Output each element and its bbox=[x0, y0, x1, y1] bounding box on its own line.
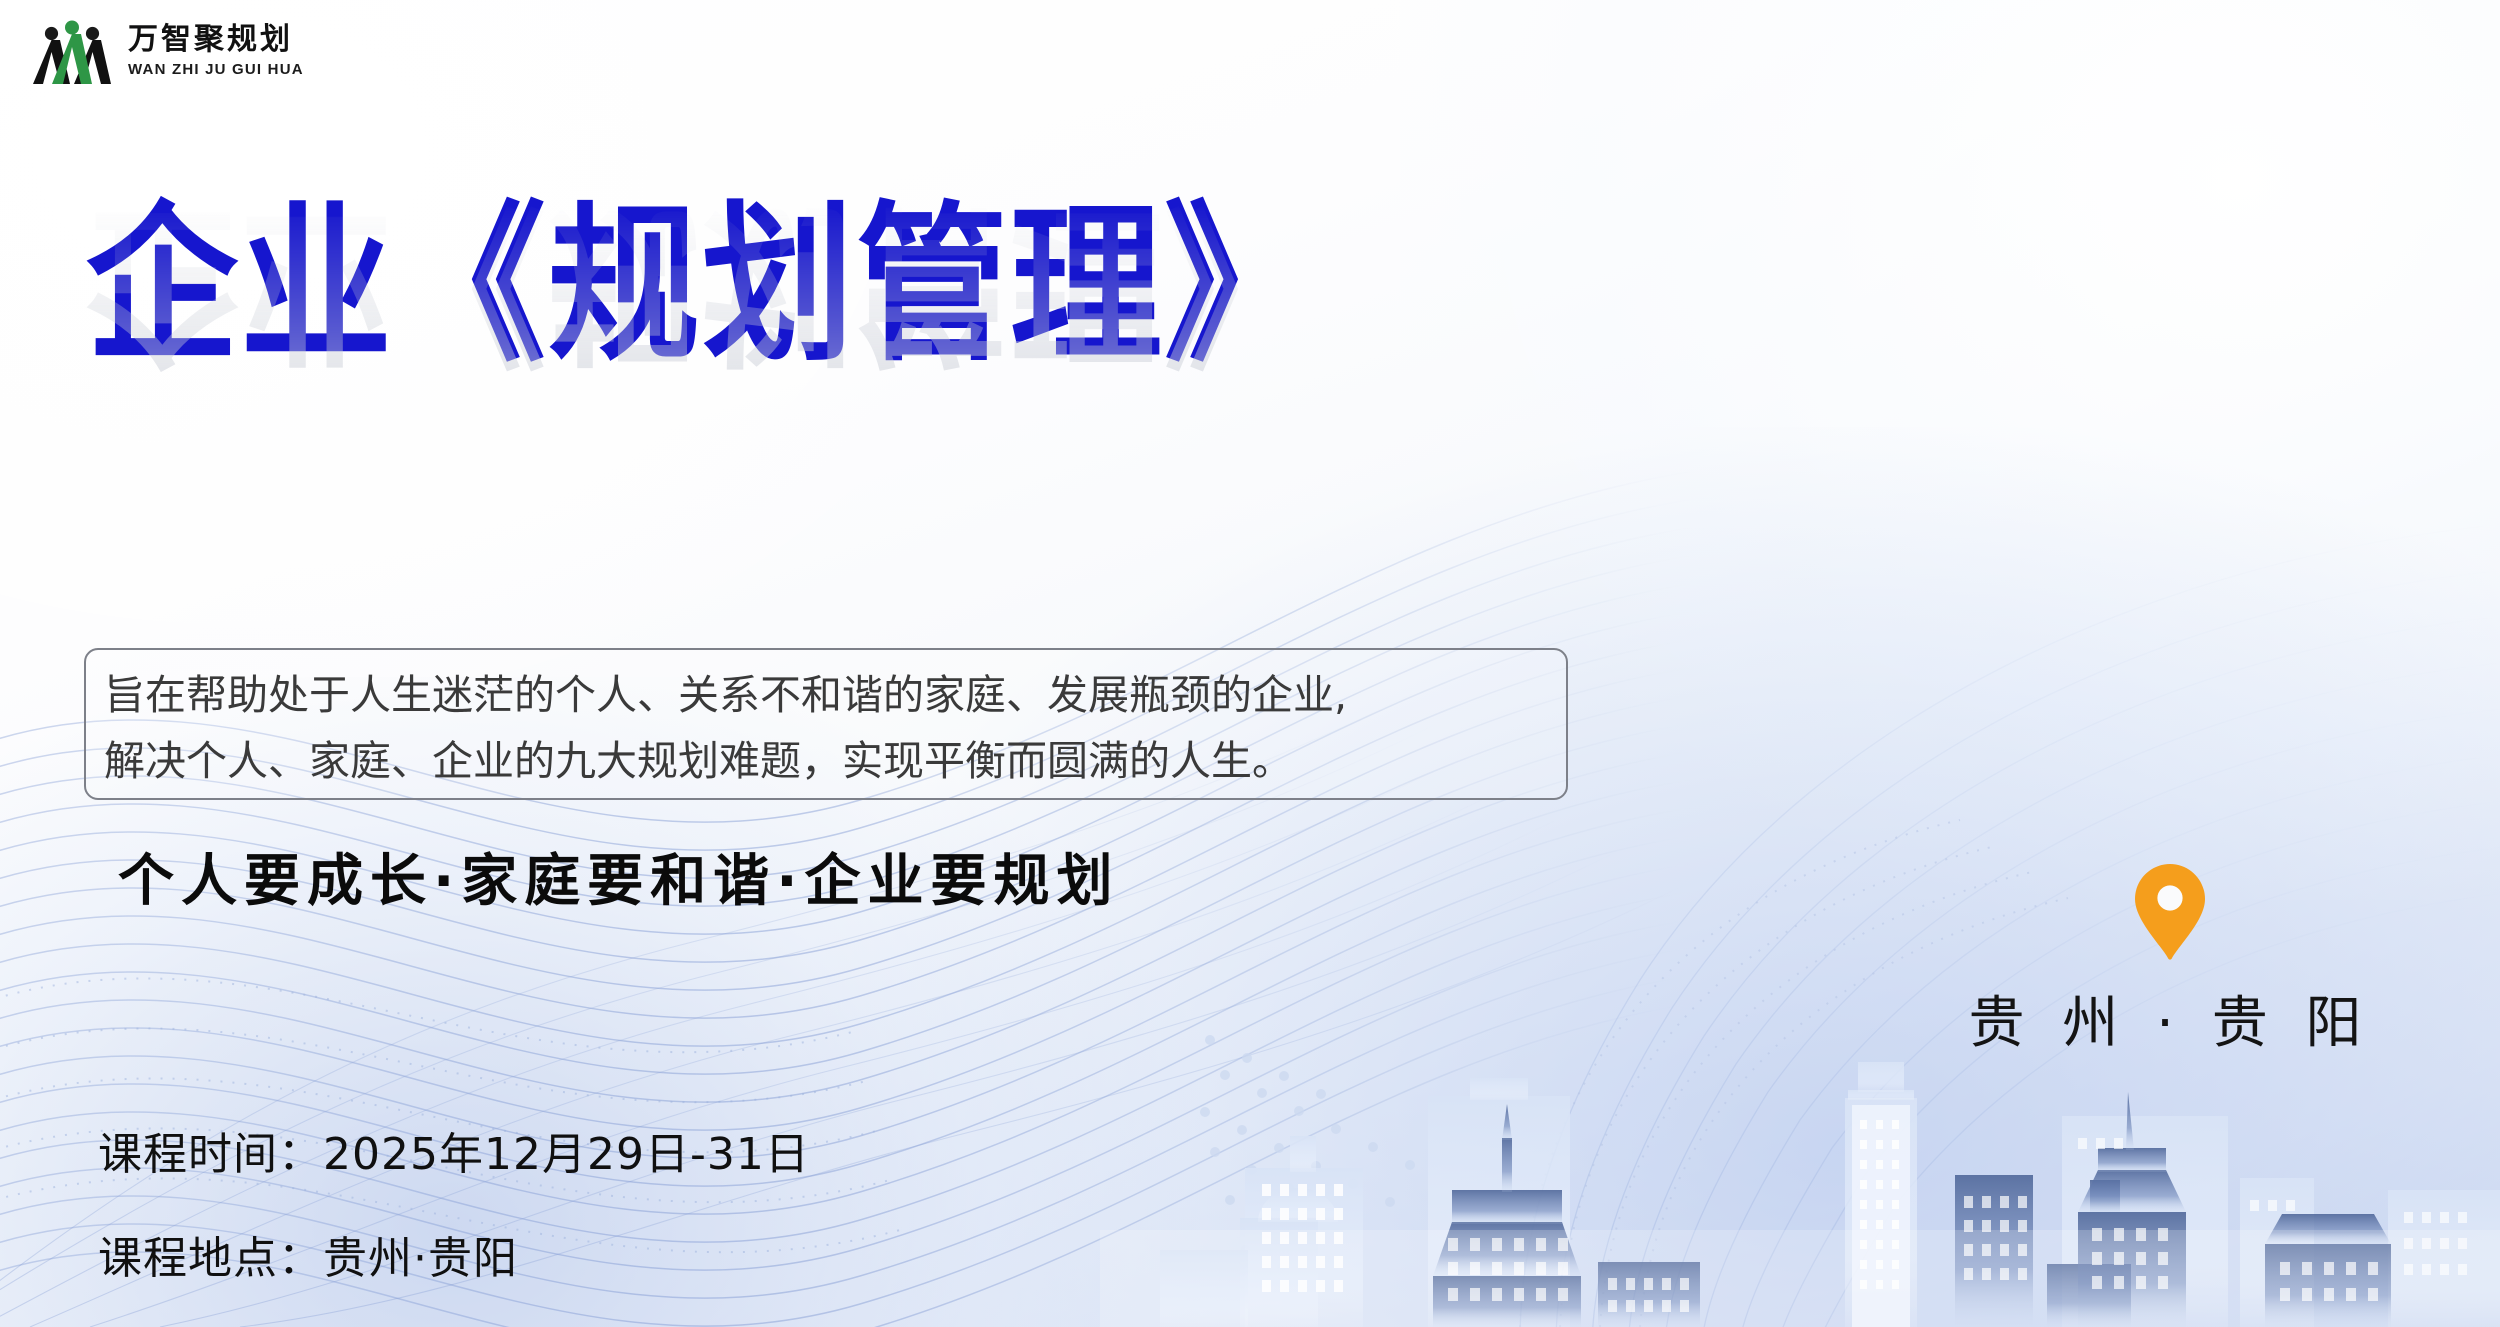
poster-canvas: 万智聚规划 WAN ZHI JU GUI HUA 企业《规划管理》 企业《规划管… bbox=[0, 0, 2500, 1327]
location-city-label: 贵 州 · 贵 阳 bbox=[1960, 978, 2380, 1059]
description-box: 旨在帮助处于人生迷茫的个人、关系不和谐的家庭、发展瓶颈的企业, 解决个人、家庭、… bbox=[84, 648, 1568, 800]
course-place: 课程地点：贵州·贵阳 bbox=[98, 1222, 810, 1286]
description-line-1: 旨在帮助处于人生迷茫的个人、关系不和谐的家庭、发展瓶颈的企业, bbox=[104, 662, 1548, 728]
brand-logo: 万智聚规划 WAN ZHI JU GUI HUA bbox=[30, 14, 304, 88]
map-pin-icon bbox=[2133, 862, 2207, 962]
course-time: 课程时间：2025年12月29日-31日 bbox=[98, 1118, 810, 1182]
hero-title-block: 企业《规划管理》 企业《规划管理》 bbox=[86, 196, 1686, 526]
three-people-logo-icon bbox=[30, 14, 114, 88]
brand-logo-text: 万智聚规划 WAN ZHI JU GUI HUA bbox=[128, 25, 304, 77]
description-line-2: 解决个人、家庭、企业的九大规划难题，实现平衡而圆满的人生。 bbox=[104, 728, 1548, 794]
city-skyline bbox=[1100, 1062, 2500, 1327]
course-info-block: 课程时间：2025年12月29日-31日 课程地点：贵州·贵阳 bbox=[98, 1118, 810, 1286]
brand-name-pinyin: WAN ZHI JU GUI HUA bbox=[128, 62, 304, 77]
page-title-reflection: 企业《规划管理》 bbox=[86, 193, 1318, 372]
location-block: 贵 州 · 贵 阳 bbox=[1960, 862, 2380, 1059]
brand-name-cn: 万智聚规划 bbox=[128, 25, 304, 55]
slogan-text: 个人要成长·家庭要和谐·企业要规划 bbox=[118, 836, 1120, 917]
